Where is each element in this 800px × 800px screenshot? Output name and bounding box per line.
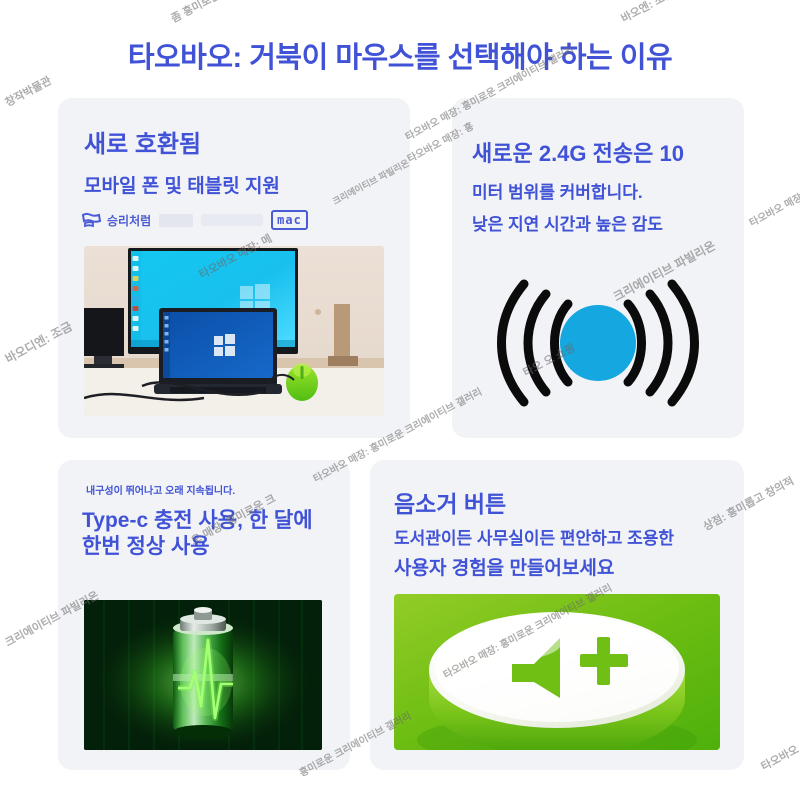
watermark-text: 타오바오 매장: bbox=[746, 187, 800, 229]
mac-logo: mac bbox=[271, 210, 308, 230]
wireless-title: 새로운 2.4G 전송은 10 bbox=[472, 140, 732, 168]
watermark-text: 창작박물관 bbox=[2, 72, 54, 110]
battery-photo bbox=[84, 600, 322, 750]
windows-logo: 승리처럼 bbox=[80, 212, 151, 229]
watermark-text: 타오바오 bbox=[758, 741, 800, 774]
battery-caption: 내구성이 뛰어나고 오래 지속됩니다. bbox=[86, 482, 235, 497]
mute-title: 음소거 버튼 bbox=[394, 490, 506, 519]
card-battery: 내구성이 뛰어나고 오래 지속됩니다. Type-c 충전 사용, 한 달에 한… bbox=[58, 460, 350, 770]
watermark-text: 바오엔: 조금 bbox=[618, 0, 676, 26]
compatibility-photo bbox=[84, 246, 384, 416]
mute-line-2: 사용자 경험을 만들어보세요 bbox=[394, 556, 614, 582]
promo-page: 타오바오: 거북이 마우스를 선택해야 하는 이유 새로 호환됨 모바일 폰 및… bbox=[0, 0, 800, 800]
page-title: 타오바오: 거북이 마우스를 선택해야 하는 이유 bbox=[0, 34, 800, 76]
battery-title: Type-c 충전 사용, 한 달에 한번 정상 사용 bbox=[82, 508, 332, 561]
wifi-signal-icon bbox=[462, 268, 734, 418]
wireless-line-2: 낮은 지연 시간과 높은 감도 bbox=[472, 214, 663, 237]
mute-button-photo bbox=[394, 594, 720, 750]
compatibility-logo-row: 승리처럼 mac bbox=[80, 206, 380, 234]
watermark-text: 좀 흥미로운데요 bbox=[168, 0, 241, 26]
mute-line-1: 도서관이든 사무실이든 편안하고 조용한 bbox=[394, 528, 674, 551]
compatibility-title: 새로 호환됨 bbox=[84, 130, 201, 160]
card-wireless: 새로운 2.4G 전송은 10 미터 범위를 커버합니다. 낮은 지연 시간과 … bbox=[452, 98, 744, 438]
compatibility-subtitle: 모바일 폰 및 태블릿 지원 bbox=[84, 174, 280, 200]
android-logo-placeholder bbox=[159, 214, 193, 227]
card-mute: 음소거 버튼 도서관이든 사무실이든 편안하고 조용한 사용자 경험을 만들어보… bbox=[370, 460, 744, 770]
card-compatibility: 새로 호환됨 모바일 폰 및 태블릿 지원 승리처럼 mac bbox=[58, 98, 410, 438]
ios-logo-placeholder bbox=[201, 214, 263, 226]
windows-logo-label: 승리처럼 bbox=[107, 212, 151, 229]
wireless-line-1: 미터 범위를 커버합니다. bbox=[472, 182, 643, 205]
